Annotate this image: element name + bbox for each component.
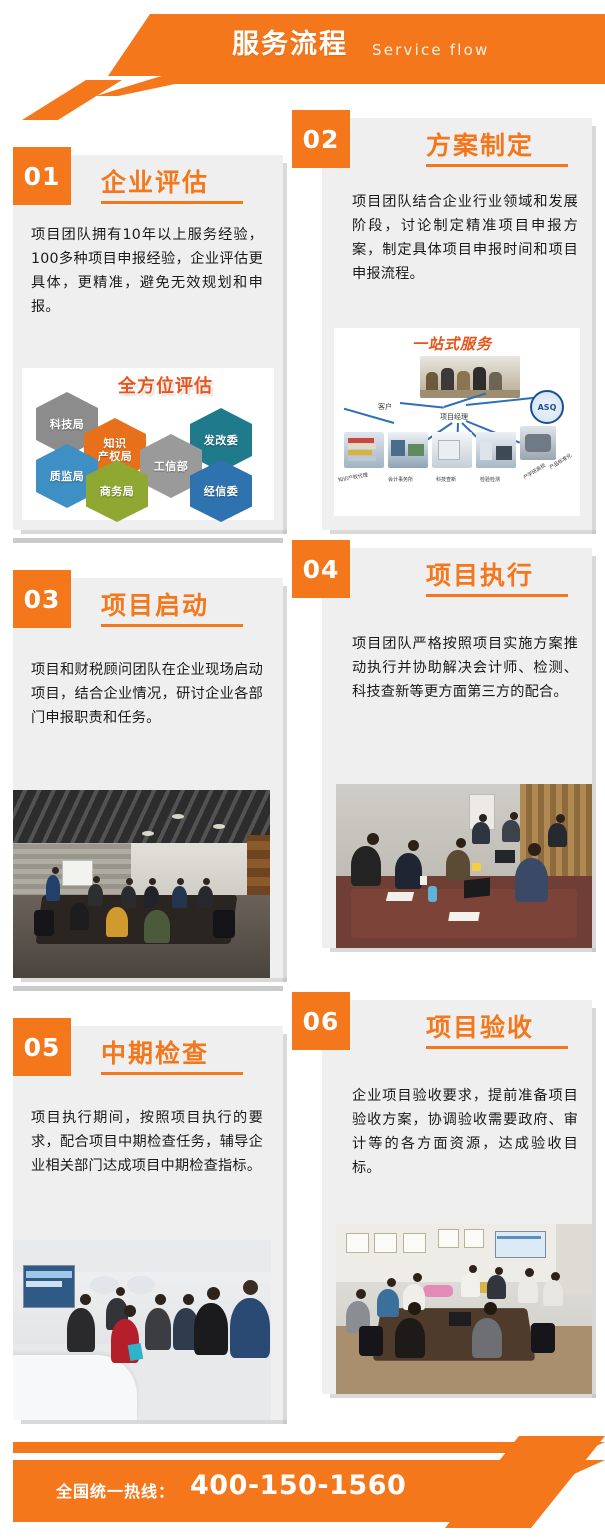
hexagon-node-label: 经信委 — [204, 485, 239, 498]
document-stack — [386, 892, 414, 901]
card-05[interactable]: 05 中期检查 项目执行期间，按照项目执行的要求，配合项目中期检查任务，辅导企业… — [13, 1026, 283, 1420]
card-03-title-rule — [101, 624, 243, 627]
person — [548, 823, 567, 847]
person — [502, 820, 520, 842]
wall-certificate — [438, 1229, 458, 1248]
card-03-title: 项目启动 — [101, 586, 209, 622]
card-05-title: 中期检查 — [101, 1034, 209, 1070]
person-head — [408, 1302, 421, 1315]
card-04-body: 项目团队严格按照项目实施方案推动执行并协助解决会计师、检测、科技查新等更方面第三… — [352, 632, 578, 704]
card-02-number: 02 — [292, 110, 350, 168]
person-head — [155, 1294, 166, 1305]
one-stop-branch-thumb — [476, 432, 516, 468]
conference-photo — [336, 1224, 592, 1394]
page-subtitle: Service flow — [372, 36, 490, 64]
photo-scene — [13, 790, 270, 978]
card-shadow-bottom — [330, 948, 596, 952]
meeting-room-photo — [13, 790, 270, 978]
hexagon-node-label: 工信部 — [154, 460, 189, 473]
person — [46, 875, 60, 901]
person — [88, 884, 103, 906]
card-06-body: 企业项目验收要求，提前准备项目验收方案，协调验收需要政府、审计等的各方面资源，达… — [352, 1084, 578, 1180]
card-shadow-bottom — [21, 978, 287, 982]
card-03[interactable]: 03 项目启动 项目和财税顾问团队在企业现场启动项目，结合企业情况，研讨企业各部… — [13, 578, 283, 978]
card-01-body: 项目团队拥有10年以上服务经验，100多种项目申报经验，企业评估更具体，更精准，… — [31, 223, 263, 319]
one-stop-arrow — [400, 402, 444, 409]
person-head — [52, 867, 59, 874]
hexagon-node-label: 商务局 — [100, 485, 135, 498]
document-stack — [448, 912, 480, 921]
one-stop-branch-label: 会计事务所 — [388, 476, 413, 483]
card-04-number: 04 — [292, 540, 350, 598]
separator-row-1 — [13, 538, 283, 543]
page-header: 服务流程 Service flow — [0, 0, 605, 110]
person — [395, 1318, 425, 1358]
person-head — [408, 840, 419, 851]
person — [230, 1298, 270, 1358]
card-05-body: 项目执行期间，按照项目执行的要求，配合项目中期检查任务，辅导企业相关部门达成项目… — [31, 1106, 263, 1178]
person — [377, 1289, 399, 1317]
card-02-title: 方案制定 — [426, 126, 534, 162]
photo-scene — [336, 1224, 592, 1394]
person-head — [207, 1287, 220, 1300]
reception-counter — [13, 1355, 137, 1420]
person — [518, 1277, 538, 1303]
person — [351, 846, 381, 886]
card-06-number: 06 — [292, 992, 350, 1050]
hexagon-chart: 全方位评估 科技局 知识产权局 发改委 质监局 工信部 商务局 经信委 — [22, 368, 274, 520]
one-stop-branch-label: 产学研高校 — [522, 462, 547, 481]
card-shadow-bottom — [330, 530, 596, 534]
person-head — [495, 1267, 503, 1275]
one-stop-service-diagram: 一站式服务 客户 项目经理 — [334, 328, 580, 516]
card-02[interactable]: 02 方案制定 项目团队结合企业行业领域和发展阶段，讨论制定精准项目申报方案，制… — [322, 118, 592, 530]
photo-scene — [336, 784, 592, 948]
one-stop-team-photo — [420, 356, 520, 398]
person — [121, 886, 136, 908]
person — [446, 850, 470, 880]
chair — [531, 1323, 555, 1353]
card-shadow-bottom — [330, 1394, 596, 1398]
one-stop-branch-label: 科技查新 — [436, 476, 456, 483]
hotline-label: 全国统一热线： — [56, 1478, 175, 1502]
person — [515, 858, 548, 902]
card-01-number: 01 — [13, 147, 71, 205]
photo-scene — [13, 1240, 271, 1420]
card-shadow-right — [592, 1008, 596, 1398]
person — [106, 907, 128, 937]
person — [472, 1318, 502, 1358]
separator-row-2 — [13, 986, 283, 991]
person — [198, 886, 213, 908]
card-shadow-right — [283, 586, 287, 982]
card-02-title-rule — [426, 164, 568, 167]
wall-certificate — [464, 1229, 484, 1248]
person-head — [528, 843, 541, 856]
person — [144, 910, 170, 943]
page-footer: 全国统一热线： 400-150-1560 — [0, 1420, 605, 1538]
card-03-number: 03 — [13, 570, 71, 628]
person — [172, 886, 187, 908]
person — [194, 1303, 228, 1355]
card-shadow-bottom — [21, 530, 287, 534]
card-04-title-rule — [426, 594, 568, 597]
wall-certificate — [346, 1233, 369, 1253]
person-head — [116, 1287, 125, 1296]
card-06[interactable]: 06 项目验收 企业项目验收要求，提前准备项目验收方案，协调验收需要政府、审计等… — [322, 1000, 592, 1394]
person — [461, 1273, 480, 1297]
person-head — [243, 1280, 258, 1295]
page-title: 服务流程 — [232, 26, 348, 64]
brochure — [128, 1343, 144, 1361]
card-02-body: 项目团队结合企业行业领域和发展阶段，讨论制定精准项目申报方案，制定具体项目申报时… — [352, 190, 578, 286]
one-stop-center-label: 项目经理 — [440, 412, 468, 422]
hexagon-node-label: 知识产权局 — [98, 437, 133, 463]
card-05-number: 05 — [13, 1018, 71, 1076]
card-05-title-rule — [101, 1072, 243, 1075]
card-shadow-right — [283, 163, 287, 534]
site-visit-photo — [13, 1240, 271, 1420]
person — [145, 1308, 171, 1350]
person-head — [367, 833, 379, 845]
wall-certificate — [374, 1233, 397, 1253]
person-head — [80, 1294, 91, 1305]
person — [543, 1280, 563, 1306]
card-01-title: 企业评估 — [101, 163, 209, 199]
hexagon-node-label: 科技局 — [50, 418, 85, 431]
hexagon-chart-title: 全方位评估 — [118, 372, 213, 398]
working-session-photo — [336, 784, 592, 948]
person-head — [479, 814, 487, 822]
chair — [213, 910, 235, 938]
flower-arrangement — [423, 1285, 453, 1297]
card-06-title-rule — [426, 1046, 568, 1049]
projection-screen — [495, 1231, 546, 1258]
hotline-phone[interactable]: 400-150-1560 — [190, 1470, 406, 1501]
one-stop-certification-seal: ASQ — [530, 390, 564, 424]
laptop — [449, 1312, 471, 1326]
ceiling-light — [213, 824, 225, 829]
one-stop-branch-thumb — [388, 432, 428, 468]
one-stop-branch-label: 知识产权代理 — [338, 471, 369, 483]
person — [67, 1308, 95, 1352]
hexagon-node-label: 发改委 — [204, 434, 239, 447]
one-stop-service-title: 一站式服务 — [412, 333, 492, 354]
card-03-body: 项目和财税顾问团队在企业现场启动项目，结合企业情况，研讨企业各部门申报职责和任务… — [31, 658, 263, 730]
card-04-title: 项目执行 — [426, 556, 534, 592]
person — [70, 903, 89, 930]
seal-label: ASQ — [538, 403, 557, 412]
one-stop-branch-thumb — [520, 426, 556, 460]
card-shadow-right — [592, 126, 596, 534]
card-01[interactable]: 01 企业评估 项目团队拥有10年以上服务经验，100多种项目申报经验，企业评估… — [13, 155, 283, 530]
header-arrow-accent — [22, 80, 202, 120]
person — [395, 853, 422, 889]
card-04[interactable]: 04 项目执行 项目团队严格按照项目实施方案推动执行并协助解决会计师、检测、科技… — [322, 548, 592, 948]
laptop — [464, 878, 490, 899]
one-stop-client-label: 客户 — [378, 402, 392, 412]
one-stop-branch-thumb — [344, 432, 384, 468]
card-shadow-right — [592, 556, 596, 952]
card-shadow-right — [283, 1034, 287, 1424]
water-bottle — [428, 886, 437, 902]
one-stop-branch-label: 检验检测 — [480, 476, 500, 483]
cup — [420, 876, 427, 885]
person-head — [469, 1265, 477, 1273]
chair — [34, 910, 54, 936]
laptop — [495, 850, 515, 863]
person-head — [124, 1305, 136, 1317]
card-06-title: 项目验收 — [426, 1008, 534, 1044]
one-stop-branch-thumb — [432, 432, 472, 468]
card-01-title-rule — [101, 201, 243, 204]
person-head — [556, 814, 565, 823]
person — [487, 1275, 506, 1299]
person — [472, 822, 490, 844]
hexagon-node-label: 质监局 — [50, 470, 85, 483]
chair — [359, 1326, 383, 1356]
sticky-note — [472, 863, 481, 871]
wall-certificate — [403, 1233, 426, 1253]
person-head — [510, 812, 518, 820]
